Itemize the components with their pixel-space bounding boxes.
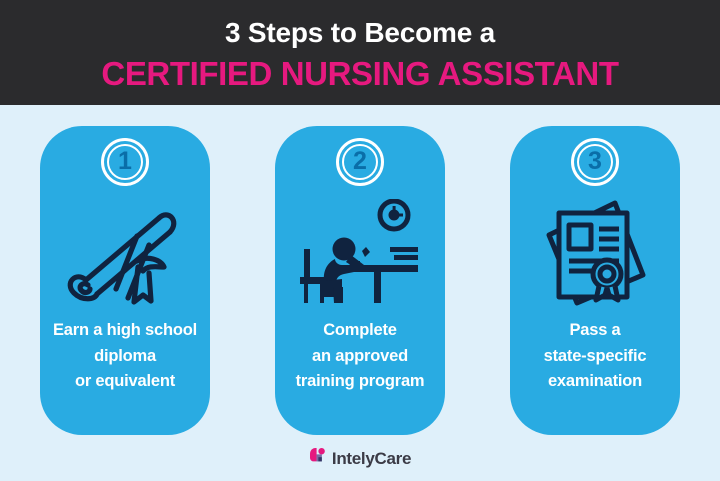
step-number-2: 2 bbox=[353, 149, 367, 174]
infographic-root: 3 Steps to Become a CERTIFIED NURSING AS… bbox=[0, 0, 720, 480]
caption-line: Complete bbox=[323, 318, 397, 344]
header-banner: 3 Steps to Become a CERTIFIED NURSING AS… bbox=[0, 0, 720, 105]
step-number-badge-3: 3 bbox=[571, 138, 619, 186]
footer-branding: IntelyCare bbox=[0, 435, 720, 481]
caption-line: examination bbox=[548, 369, 642, 395]
steps-container: 1 bbox=[0, 105, 720, 435]
caption-line: an approved bbox=[312, 344, 408, 370]
step-card-1[interactable]: 1 bbox=[40, 126, 210, 435]
step-number-badge-1: 1 bbox=[101, 138, 149, 186]
step-caption-2: Complete an approved training program bbox=[275, 312, 445, 435]
step-card-2[interactable]: 2 bbox=[275, 126, 445, 435]
caption-line: Pass a bbox=[569, 318, 620, 344]
caption-line: diploma bbox=[94, 344, 156, 370]
certificate-documents-icon bbox=[520, 194, 670, 312]
diploma-scroll-icon bbox=[50, 194, 200, 312]
intelycare-logo-icon bbox=[309, 448, 326, 468]
intelycare-logo-text: IntelyCare bbox=[332, 450, 411, 467]
step-caption-3: Pass a state-specific examination bbox=[510, 312, 680, 435]
step-card-3[interactable]: 3 bbox=[510, 126, 680, 435]
step-caption-1: Earn a high school diploma or equivalent bbox=[40, 312, 210, 435]
caption-line: state-specific bbox=[544, 344, 647, 370]
caption-line: training program bbox=[296, 369, 425, 395]
header-title-line2: CERTIFIED NURSING ASSISTANT bbox=[101, 57, 618, 90]
caption-line: or equivalent bbox=[75, 369, 175, 395]
step-number-badge-2: 2 bbox=[336, 138, 384, 186]
step-number-3: 3 bbox=[588, 149, 602, 174]
step-number-1: 1 bbox=[118, 149, 132, 174]
student-at-desk-icon bbox=[285, 194, 435, 312]
header-title-line1: 3 Steps to Become a bbox=[225, 19, 495, 47]
caption-line: Earn a high school bbox=[53, 318, 197, 344]
